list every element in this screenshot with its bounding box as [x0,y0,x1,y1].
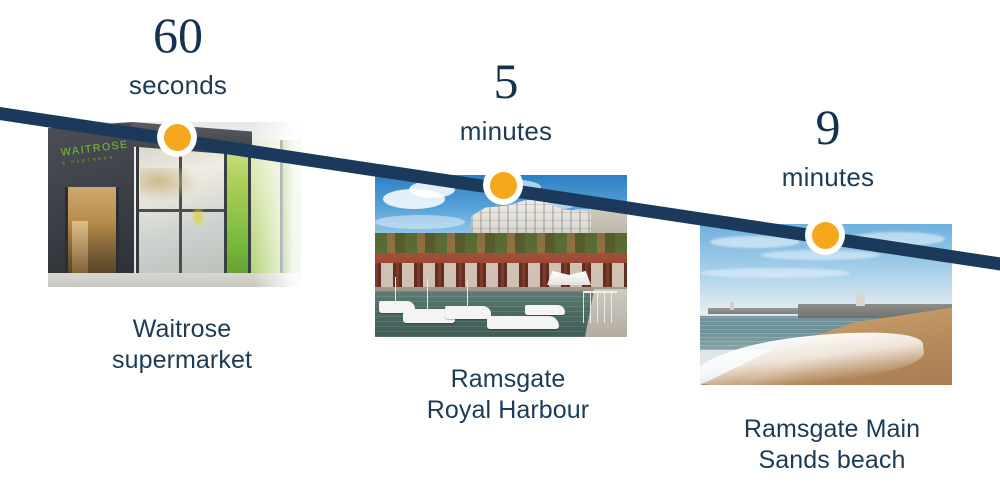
caption-line-2: Sands beach [705,445,959,476]
duration-unit: minutes [400,116,612,147]
caption-line-1: Ramsgate [388,364,628,395]
cloud [700,268,850,278]
caption-line-2: Royal Harbour [388,395,628,426]
duration-number: 5 [400,58,612,106]
marker-dot-icon [490,172,517,199]
window-mullion-1 [224,140,227,287]
jetty-railing [583,291,617,323]
outer-breakwater [708,308,804,314]
green-panel-1 [226,142,248,286]
boat-mast [427,279,428,309]
caption-line-1: Ramsgate Main [705,414,959,445]
timeline-marker-waitrose[interactable] [157,117,197,157]
moored-boat [445,306,491,319]
caption-beach: Ramsgate Main Sands beach [705,414,959,475]
duration-label-waitrose: 60 seconds [72,12,284,101]
duration-label-harbour: 5 minutes [400,58,612,147]
boat-mast [395,277,396,301]
beacon-marker [730,302,734,310]
window-mullion-2 [248,140,251,287]
duration-unit: seconds [72,70,284,101]
window-reflection [140,168,200,202]
lighthouse [856,292,865,306]
wall-vegetation [375,233,627,253]
cloud [375,215,465,229]
moored-boat [525,305,565,315]
storefront-glass-window [136,146,225,284]
moored-boat [487,316,559,329]
caption-line-1: Waitrose [62,314,302,345]
duration-number: 60 [72,12,284,60]
caption-harbour: Ramsgate Royal Harbour [388,364,628,425]
walking-distance-infographic: WAITROSE & PARTNERS [0,0,1000,500]
caption-line-2: supermarket [62,345,302,376]
duration-label-beach: 9 minutes [722,104,934,193]
timeline-marker-harbour[interactable] [483,165,523,205]
duration-number: 9 [722,104,934,152]
caption-waitrose: Waitrose supermarket [62,314,302,375]
store-entrance-door [65,187,119,284]
timeline-marker-beach[interactable] [805,215,845,255]
boat-mast [467,280,468,306]
marker-dot-icon [812,222,839,249]
window-display-highlight [191,206,205,228]
marker-dot-icon [164,124,191,151]
duration-unit: minutes [722,162,934,193]
